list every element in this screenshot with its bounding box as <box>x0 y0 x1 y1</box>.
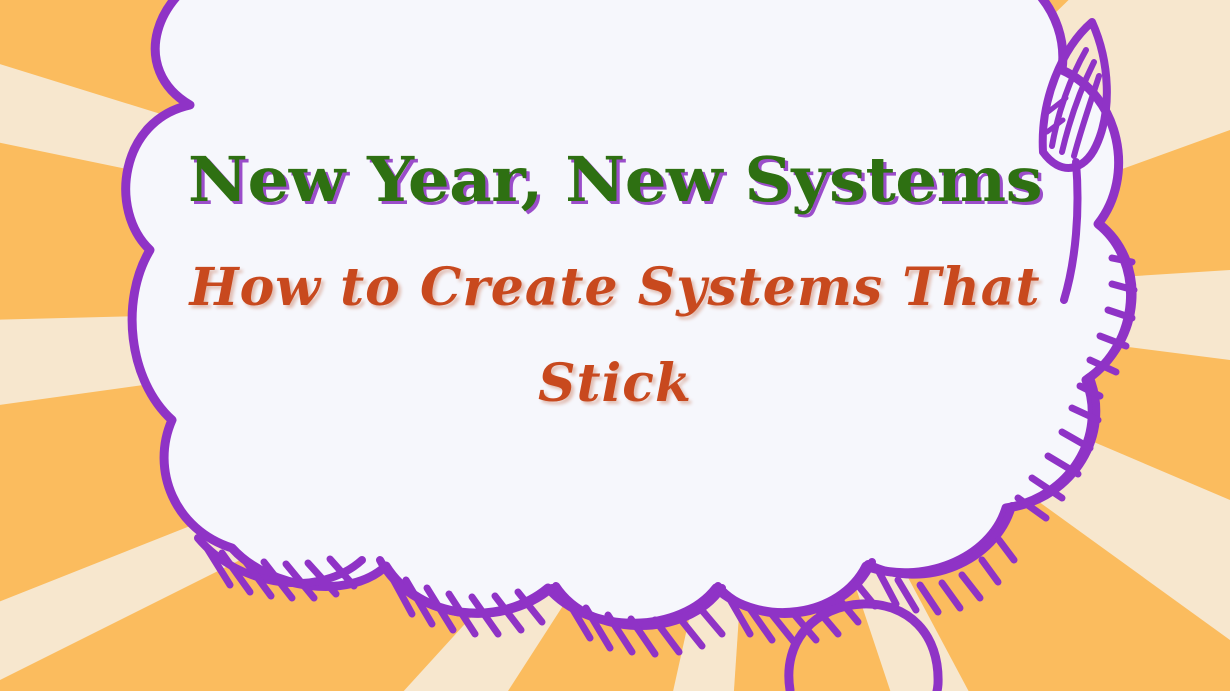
cloud-fill <box>126 0 1131 623</box>
thought-cloud-frame <box>0 0 1230 691</box>
slide-canvas: New Year, New Systems How to Create Syst… <box>0 0 1230 691</box>
thought-bubble-tail <box>789 604 938 691</box>
